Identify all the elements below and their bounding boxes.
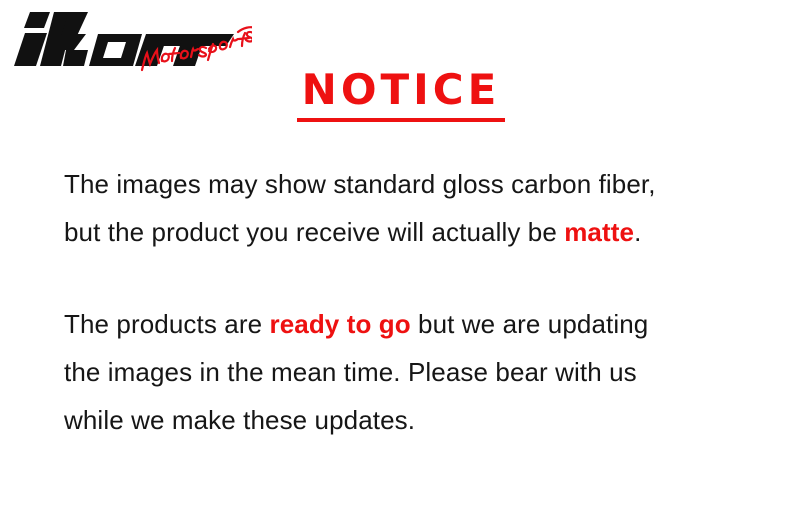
notice-emphasis-ready-to-go: ready to go: [269, 309, 410, 339]
notice-text: but the product you receive will actuall…: [64, 217, 564, 247]
notice-title-underline: [297, 118, 505, 122]
notice-line: while we make these updates.: [64, 396, 764, 444]
notice-text: The images may show standard gloss carbo…: [64, 169, 656, 199]
notice-paragraph-1: The images may show standard gloss carbo…: [64, 160, 764, 256]
notice-text: the images in the mean time. Please bear…: [64, 357, 637, 387]
notice-text: .: [634, 217, 641, 247]
notice-page: ikon Motorsports: [0, 0, 800, 510]
notice-paragraph-2: The products are ready to go but we are …: [64, 300, 764, 444]
notice-text: while we make these updates.: [64, 405, 415, 435]
notice-text: The products are: [64, 309, 269, 339]
page-title: NOTICE: [296, 66, 505, 116]
notice-line: The products are ready to go but we are …: [64, 300, 764, 348]
notice-line: The images may show standard gloss carbo…: [64, 160, 764, 208]
notice-emphasis-matte: matte: [564, 217, 634, 247]
logo-wordmark-ikon: [14, 12, 234, 66]
notice-text: but we are updating: [411, 309, 649, 339]
notice-heading: NOTICE: [0, 66, 800, 116]
notice-body: The images may show standard gloss carbo…: [64, 160, 764, 444]
notice-line: but the product you receive will actuall…: [64, 208, 764, 256]
notice-line: the images in the mean time. Please bear…: [64, 348, 764, 396]
